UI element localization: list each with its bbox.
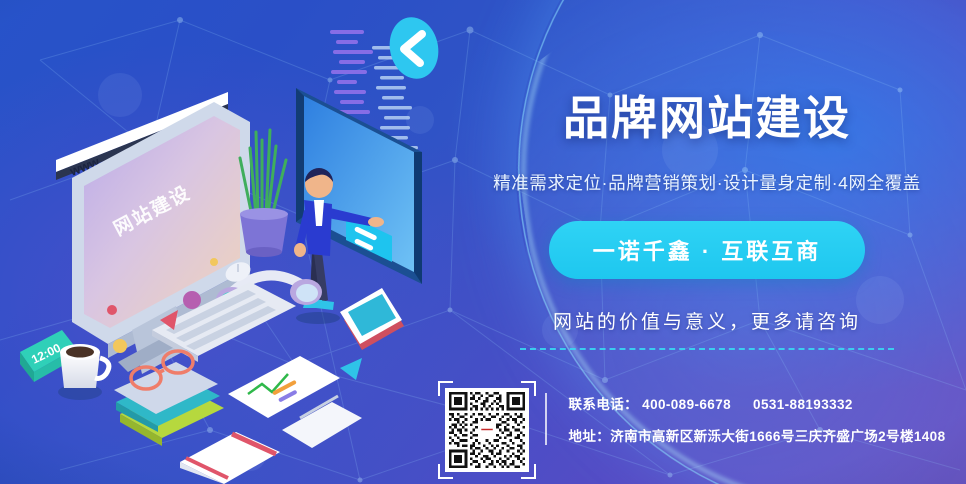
edge-vignette	[0, 0, 966, 484]
promo-banner: www. 网站建设	[0, 0, 966, 484]
